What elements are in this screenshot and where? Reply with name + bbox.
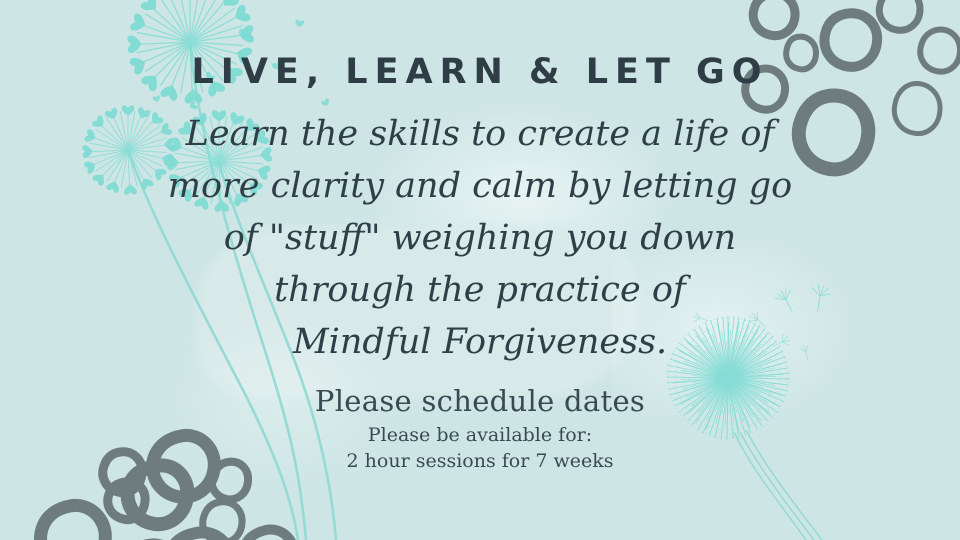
poster-body-copy: Learn the skills to create a life of mor…	[168, 108, 792, 368]
body-line-4: through the practice of	[168, 264, 792, 316]
poster-canvas: LIVE, LEARN & LET GO Learn the skills to…	[0, 0, 960, 540]
body-line-2: more clarity and calm by letting go	[168, 160, 792, 212]
schedule-sub-line-2: 2 hour sessions for 7 weeks	[315, 448, 645, 474]
body-line-3: of "stuff" weighing you down	[168, 212, 792, 264]
schedule-title: Please schedule dates	[315, 384, 645, 418]
poster-headline: LIVE, LEARN & LET GO	[192, 52, 769, 92]
schedule-sub-line-1: Please be available for:	[315, 422, 645, 448]
schedule-block: Please schedule dates Please be availabl…	[315, 384, 645, 474]
body-line-5: Mindful Forgiveness.	[168, 316, 792, 368]
body-line-1: Learn the skills to create a life of	[168, 108, 792, 160]
poster-content: LIVE, LEARN & LET GO Learn the skills to…	[0, 0, 960, 540]
schedule-subtext: Please be available for: 2 hour sessions…	[315, 422, 645, 474]
